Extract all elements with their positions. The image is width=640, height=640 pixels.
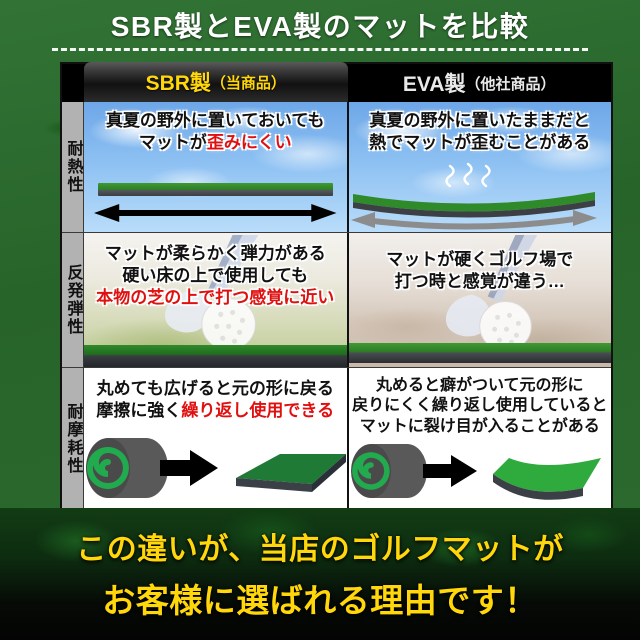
column-header-sbr: SBR製 （当商品） xyxy=(84,62,348,102)
cell-sbr-heat-text: 真夏の野外に置いておいても マットが歪みにくい xyxy=(84,110,347,154)
text-line: 硬い床の上で使用しても xyxy=(84,265,347,287)
header-corner-spacer xyxy=(62,64,84,102)
rolled-mat-to-flat-mat-illustration xyxy=(84,428,349,506)
text-line: マットが柔らかく弾力がある xyxy=(84,243,347,265)
arrow-right-icon xyxy=(423,455,477,487)
green-mat-strip xyxy=(349,343,612,363)
row-label-heat-resistance: 耐熱性 xyxy=(62,102,84,232)
page-title: SBR製とEVA製のマットを比較 xyxy=(0,5,640,45)
cell-eva-resilience: マットが硬くゴルフ場で 打つ時と感覚が違う… xyxy=(349,233,612,367)
comparison-table: SBR製 （当商品） EVA製 （他社商品） 耐熱性 反発弾性 耐摩耗性 xyxy=(60,62,613,508)
text-line: 打つ時と感覚が違う… xyxy=(349,271,612,293)
cell-sbr-resilience-text: マットが柔らかく弾力がある 硬い床の上で使用しても 本物の芝の上で打つ感覚に近い xyxy=(84,243,347,308)
rolled-mat-icon xyxy=(351,444,427,498)
cell-eva-abrasion-text: 丸めると癖がついて元の形に 戻りにくく繰り返し使用していると マットに裂け目が入… xyxy=(349,376,612,437)
column-header-sbr-sub: （当商品） xyxy=(211,72,286,93)
text-line-highlight: 本物の芝の上で打つ感覚に近い xyxy=(84,287,347,309)
arrow-right-icon xyxy=(160,450,218,486)
table-row: 真夏の野外に置いておいても マットが歪みにくい xyxy=(84,102,611,232)
text-line: マットが硬くゴルフ場で xyxy=(349,249,612,271)
footer-line-2: お客様に選ばれる理由です！ xyxy=(0,574,640,622)
text-line: 摩擦に強く繰り返し使用できる xyxy=(84,400,347,422)
comparison-infographic: SBR製とEVA製のマットを比較 SBR製 （当商品） EVA製 （他社商品） … xyxy=(0,0,640,640)
curved-mat-icon xyxy=(493,458,601,500)
cell-eva-heat-text: 真夏の野外に置いたままだと 熱でマットが歪むことがある xyxy=(349,110,612,154)
flat-mat-icon xyxy=(236,454,346,492)
table-header-row: SBR製 （当商品） EVA製 （他社商品） xyxy=(62,64,611,102)
cell-sbr-abrasion: 丸めても広げると元の形に戻る 摩擦に強く繰り返し使用できる xyxy=(84,368,349,510)
text-part: 摩擦に強く xyxy=(96,401,181,420)
green-mat-strip xyxy=(84,345,347,367)
column-header-eva-sub: （他社商品） xyxy=(466,73,556,94)
cell-eva-heat: 真夏の野外に置いたままだと 熱でマットが歪むことがある xyxy=(349,102,612,232)
column-header-eva: EVA製 （他社商品） xyxy=(348,64,612,102)
table-body: 耐熱性 反発弾性 耐摩耗性 真夏の野外に置いておいても マットが歪みにくい xyxy=(62,102,611,506)
table-row: 丸めても広げると元の形に戻る 摩擦に強く繰り返し使用できる xyxy=(84,367,611,510)
footer-line-1: この違いが、当店のゴルフマットが xyxy=(0,524,640,568)
header-dashed-divider xyxy=(52,48,588,51)
text-line: 戻りにくく繰り返し使用していると xyxy=(349,396,612,416)
cell-sbr-heat: 真夏の野外に置いておいても マットが歪みにくい xyxy=(84,102,349,232)
text-part-highlight: 歪みにくい xyxy=(207,133,292,152)
table-row: マットが柔らかく弾力がある 硬い床の上で使用しても 本物の芝の上で打つ感覚に近い xyxy=(84,232,611,367)
cell-eva-abrasion: 丸めると癖がついて元の形に 戻りにくく繰り返し使用していると マットに裂け目が入… xyxy=(349,368,612,510)
column-header-sbr-main: SBR製 xyxy=(146,67,211,97)
text-line: マットが歪みにくい xyxy=(84,132,347,154)
rolled-mat-to-curved-mat-illustration xyxy=(349,438,612,506)
rolled-mat-icon xyxy=(86,438,168,498)
row-label-abrasion-resistance: 耐摩耗性 xyxy=(62,367,84,510)
row-label-column: 耐熱性 反発弾性 耐摩耗性 xyxy=(62,102,84,506)
double-arrow-black xyxy=(94,202,337,224)
warped-mat-illustration xyxy=(349,160,599,232)
footer-banner: この違いが、当店のゴルフマットが お客様に選ばれる理由です！ xyxy=(0,508,640,640)
text-part-highlight: 繰り返し使用できる xyxy=(181,401,334,420)
text-line: 真夏の野外に置いたままだと xyxy=(349,110,612,132)
row-label-resilience: 反発弾性 xyxy=(62,232,84,367)
heat-wave-icon xyxy=(446,164,489,186)
text-line: 熱でマットが歪むことがある xyxy=(349,132,612,154)
header: SBR製とEVA製のマットを比較 xyxy=(0,0,640,60)
text-line: 丸めても広げると元の形に戻る xyxy=(84,378,347,400)
text-line: 丸めると癖がついて元の形に xyxy=(349,376,612,396)
text-line: 真夏の野外に置いておいても xyxy=(84,110,347,132)
flat-mat-illustration xyxy=(98,183,333,196)
text-line: マットに裂け目が入ることがある xyxy=(349,417,612,437)
column-header-eva-main: EVA製 xyxy=(403,68,466,98)
cell-sbr-abrasion-text: 丸めても広げると元の形に戻る 摩擦に強く繰り返し使用できる xyxy=(84,378,347,422)
cell-eva-resilience-text: マットが硬くゴルフ場で 打つ時と感覚が違う… xyxy=(349,249,612,293)
comparison-columns: 真夏の野外に置いておいても マットが歪みにくい xyxy=(84,102,611,506)
cell-sbr-resilience: マットが柔らかく弾力がある 硬い床の上で使用しても 本物の芝の上で打つ感覚に近い xyxy=(84,233,349,367)
text-part: マットが xyxy=(139,133,207,152)
